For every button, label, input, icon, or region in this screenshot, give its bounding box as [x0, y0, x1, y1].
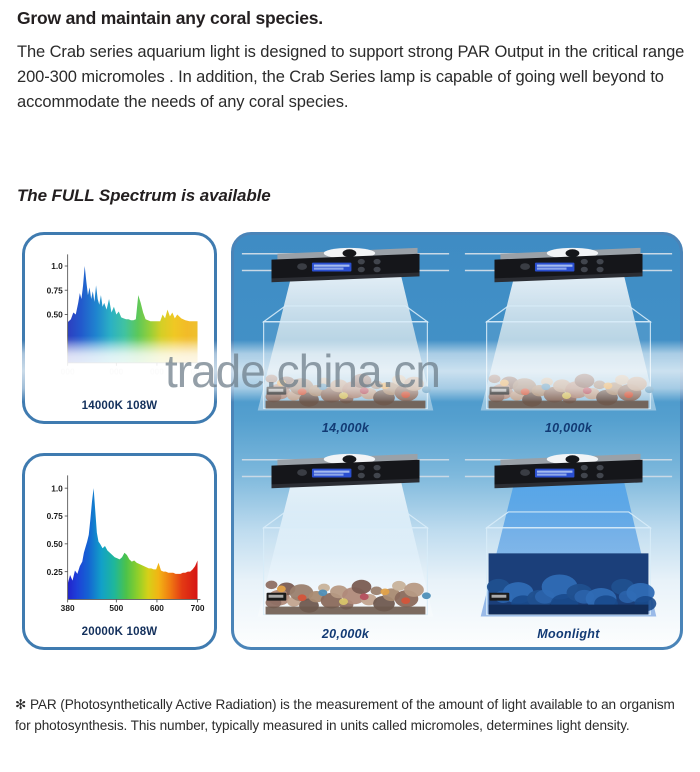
aquarium-cell-20000k: 20,000k — [234, 441, 457, 647]
aquarium-scene-20000k — [234, 441, 457, 647]
svg-text:0.50: 0.50 — [47, 310, 64, 320]
aquarium-scene-moonlight — [457, 441, 680, 647]
aquarium-label-10000k: 10,000k — [457, 421, 680, 435]
aquarium-scene-14000k — [234, 235, 457, 441]
svg-text:1.0: 1.0 — [51, 261, 63, 271]
svg-text:0.75: 0.75 — [47, 511, 64, 521]
section-subtitle: The FULL Spectrum is available — [17, 186, 271, 206]
spectrum-chart-20000k: 0.250.500.751.0380500600700 — [25, 456, 214, 647]
aquarium-label-14000k: 14,000k — [234, 421, 457, 435]
aquarium-cell-10000k: 10,000k — [457, 235, 680, 441]
spectrum-card-20000k: 0.250.500.751.0380500600700 20000K 108W — [22, 453, 217, 650]
aquarium-label-20000k: 20,000k — [234, 627, 457, 641]
aquarium-cell-14000k: 14,000k — [234, 235, 457, 441]
product-info-page: Grow and maintain any coral species. The… — [0, 0, 700, 772]
spectrum-caption-14000k: 14000K 108W — [25, 400, 214, 412]
page-title: Grow and maintain any coral species. — [17, 8, 323, 29]
par-footnote: ✻ PAR (Photosynthetically Active Radiati… — [15, 694, 685, 736]
svg-text:600: 600 — [150, 603, 164, 613]
svg-text:0.75: 0.75 — [47, 285, 64, 295]
svg-text:1.0: 1.0 — [51, 483, 63, 493]
aquarium-cell-moonlight: Moonlight — [457, 441, 680, 647]
intro-paragraph: The Crab series aquarium light is design… — [17, 40, 687, 115]
svg-text:0.50: 0.50 — [47, 539, 64, 549]
svg-text:0.25: 0.25 — [47, 567, 64, 577]
aquarium-comparison-panel: 14,000k 10,000k 20,000k Moonlight — [231, 232, 683, 650]
spectrum-caption-20000k: 20000K 108W — [25, 626, 214, 638]
aquarium-scene-10000k — [457, 235, 680, 441]
svg-text:500: 500 — [109, 603, 123, 613]
svg-text:380: 380 — [61, 603, 75, 613]
svg-text:700: 700 — [191, 603, 205, 613]
spectrum-card-14000k: 0.500.751.0000000000000 14000K 108W — [22, 232, 217, 424]
aquarium-label-moonlight: Moonlight — [457, 627, 680, 641]
spectrum-chart-14000k: 0.500.751.0000000000000 — [25, 235, 214, 421]
